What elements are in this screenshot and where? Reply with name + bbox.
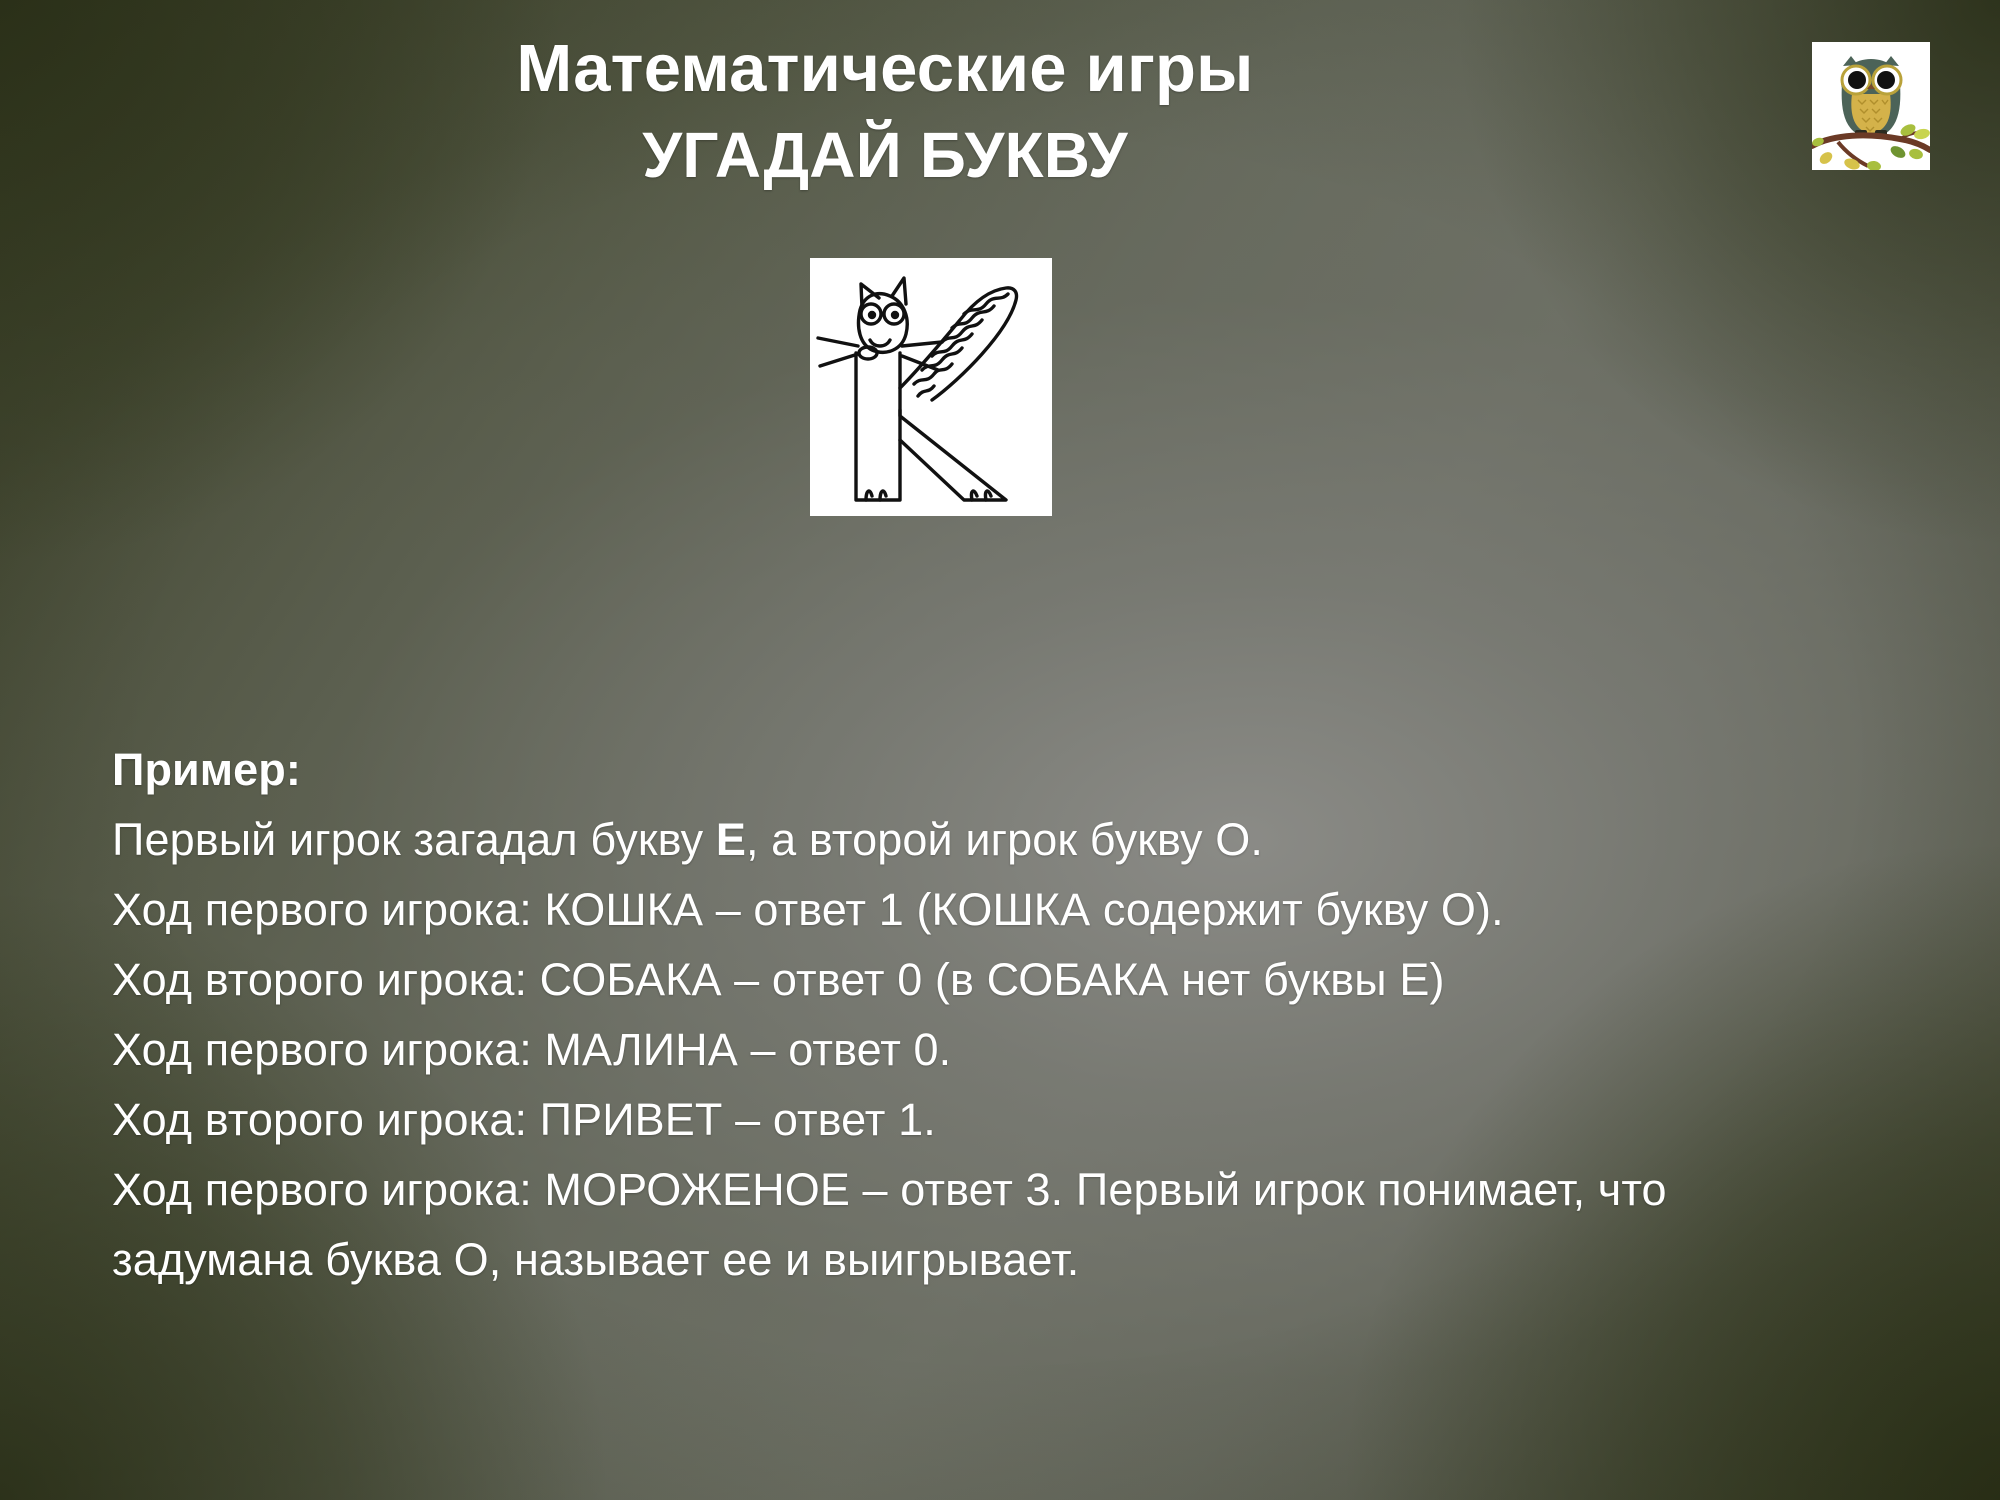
example-line-3: Ход второго игрока: СОБАКА – ответ 0 (в … <box>112 945 1912 1015</box>
example-line-1-prefix: Первый игрок загадал букву <box>112 814 716 865</box>
presentation-slide: Математические игры УГАДАЙ БУКВУ <box>0 0 2000 1500</box>
example-line-1-bold-letter: Е <box>716 814 746 865</box>
example-text-block: Пример: Первый игрок загадал букву Е, а … <box>112 735 1912 1295</box>
cat-letter-k-icon <box>810 258 1052 516</box>
example-line-5: Ход второго игрока: ПРИВЕТ – ответ 1. <box>112 1085 1912 1155</box>
example-line-1: Первый игрок загадал букву Е, а второй и… <box>112 805 1912 875</box>
owl-on-branch-icon <box>1812 42 1930 170</box>
example-line-2: Ход первого игрока: КОШКА – ответ 1 (КОШ… <box>112 875 1912 945</box>
example-line-1-suffix: , а второй игрок букву О. <box>746 814 1263 865</box>
example-line-6: Ход первого игрока: МОРОЖЕНОЕ – ответ 3.… <box>112 1155 1872 1295</box>
slide-title-line-2: УГАДАЙ БУКВУ <box>0 112 1770 198</box>
example-heading: Пример: <box>112 735 1912 805</box>
example-line-4: Ход первого игрока: МАЛИНА – ответ 0. <box>112 1015 1912 1085</box>
letter-k-cat-image <box>810 258 1052 516</box>
slide-title-block: Математические игры УГАДАЙ БУКВУ <box>0 26 1770 198</box>
slide-title-line-1: Математические игры <box>0 26 1770 112</box>
owl-logo-image <box>1812 42 1930 170</box>
